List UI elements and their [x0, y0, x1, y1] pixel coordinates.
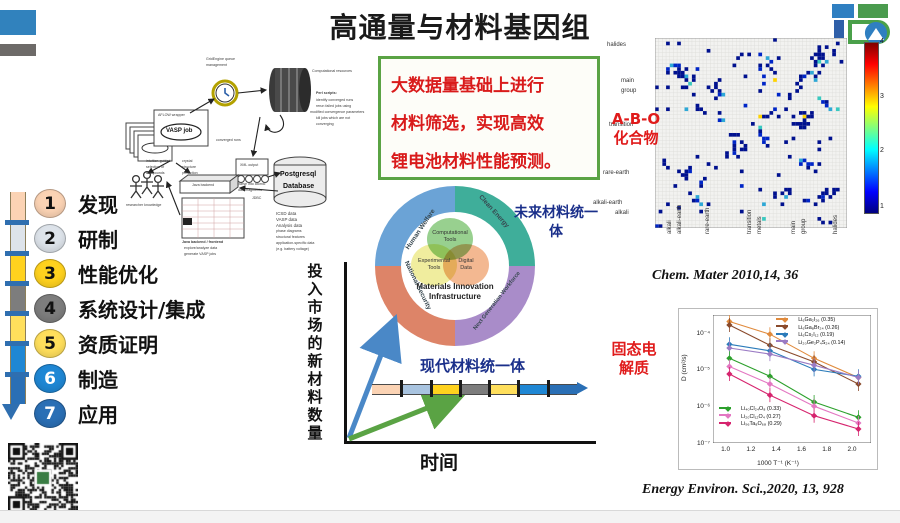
timeline-tick-5 — [517, 380, 520, 397]
step-item-7[interactable]: 7应用 — [8, 396, 208, 431]
diffusion-xtick-2: 1.4 — [772, 446, 781, 453]
wf-label-aflow-wrapper: AFLOW wrapper — [158, 113, 185, 117]
heatmap-row-label-6: alkali — [615, 210, 629, 216]
solid-electrolyte-label: 固态电 解质 — [608, 340, 660, 378]
diffusion-ytick-2: 10⁻⁶ — [697, 402, 710, 410]
timeline-tick-6 — [547, 380, 550, 397]
wf-label-researcher: researcher knowledge — [126, 203, 161, 207]
aflow-workflow-diagram: GridEngine queue management Computationa… — [120, 55, 370, 250]
step-badge-4: 4 — [34, 294, 66, 323]
diffusion-citation: Energy Environ. Sci.,2020, 13, 928 — [642, 482, 844, 498]
timeline-tick-3 — [459, 380, 462, 397]
wf-label-jdbc: JDBC — [252, 196, 261, 200]
heatmap-row-label-5: alkali-earth — [593, 200, 622, 206]
diffusion-marker — [855, 374, 861, 380]
heatmap-col-label-1: alkali-earth — [677, 205, 683, 234]
step-label-6: 制造 — [78, 364, 118, 393]
wf-label-perl4: kill jobs which are not — [316, 116, 350, 120]
wf-label-vaspdata: VASP data — [276, 217, 297, 223]
step-item-6[interactable]: 6制造 — [8, 361, 208, 396]
diffusion-xtick-5: 2.0 — [848, 446, 857, 453]
step-label-3: 性能优化 — [78, 259, 158, 288]
diffusion-marker — [726, 345, 732, 351]
diffusion-plot-area: 10⁻⁴10⁻⁵10⁻⁶10⁻⁷1.01.21.41.61.82.0Li₆Ga₂… — [713, 315, 871, 443]
step-label-1: 发现 — [78, 189, 118, 218]
diffusion-legend-top: Li₆Ga₂I₂₆ (0.35)Li₆Ga₈Br₂₄ (0.26)Li₆Cs₂I… — [776, 317, 845, 347]
heatmap-col-label-5: main — [791, 221, 797, 234]
diffusion-legend-item-3: Li₂₀Ge₂P₄S₂₄ (0.14) — [776, 340, 845, 348]
cbar-tick-3: 3 — [880, 93, 884, 100]
logo-bar-blue — [0, 10, 36, 35]
qr-code[interactable] — [8, 443, 78, 513]
step-badge-5: 5 — [34, 329, 66, 358]
step-label-4: 系统设计/集成 — [78, 294, 205, 323]
diffusion-ylabel: D (cm²/s) — [681, 354, 688, 381]
solid-electrolyte-line2: 解质 — [619, 359, 649, 377]
timeline-tick-2 — [430, 380, 433, 397]
diffusion-ytick-0: 10⁻⁴ — [697, 329, 710, 337]
wf-label-explore: explore/analyze data — [184, 246, 217, 250]
wf-label-converged: converged runs — [216, 138, 241, 142]
wf-label-gridengine: GridEngine queue — [206, 57, 235, 61]
step-badge-2: 2 — [34, 224, 66, 253]
market-materials-chart: 投入市场的新材料数量 时间 现代材料统一体 — [300, 262, 600, 472]
wf-label-vasp-job: VASP job — [166, 128, 192, 136]
wf-label-perl1: identify converged runs — [316, 98, 353, 102]
page-title: 高通量与材料基因组 — [300, 6, 620, 46]
step-badge-6: 6 — [34, 364, 66, 393]
wf-label-javabackend: Java backend — [192, 183, 214, 187]
diffusion-legend-item-1: Li₆Ga₈Br₂₄ (0.26) — [776, 325, 845, 333]
callout-box: 大数据量基础上进行 材料筛选，实现高效 锂电池材料性能预测。 — [378, 56, 600, 180]
diffusion-ytick-3: 10⁻⁷ — [697, 439, 710, 447]
cbar-tick-2: 2 — [880, 147, 884, 154]
abo-red-label-line1: A-B-O — [612, 110, 660, 128]
wf-label-database: Database — [283, 183, 314, 192]
heatmap-col-label-0: alkali — [667, 220, 673, 234]
heatmap-cells — [655, 38, 847, 228]
wf-label-parse2: data fragments — [238, 188, 262, 192]
slide-root: 高通量与材料基因组 大数据量基础上进行 材料筛选，实现高效 锂电池材料性能预测。… — [0, 0, 900, 523]
timeline-segment-5 — [489, 384, 518, 395]
timeline-segment-1 — [372, 384, 401, 395]
diffusion-legend-item-6: Li₅₆Ta₈O₆₈ (0.29) — [719, 421, 782, 429]
heatmap-col-label-4: metals — [757, 216, 763, 234]
heatmap-colorbar — [864, 42, 879, 214]
future-materials-label: 未来材料统一体 — [508, 204, 604, 242]
abo-red-label-line2: 化合物 — [613, 129, 658, 147]
step-label-2: 研制 — [78, 224, 118, 253]
timeline-tick-1 — [400, 380, 403, 397]
timeline-segment-3 — [431, 384, 460, 395]
step-item-5[interactable]: 5资质证明 — [8, 326, 208, 361]
footer-bar — [0, 510, 900, 523]
heatmap-grid — [655, 38, 847, 228]
heatmap-col-label-6: group — [801, 219, 807, 234]
wf-label-compresources: Computational resources — [312, 69, 352, 73]
timeline-segment-7 — [548, 384, 577, 395]
cbar-tick-4: 4 — [880, 38, 884, 45]
diffusion-marker — [811, 413, 817, 419]
wf-label-generate: generate VASP jobs — [184, 252, 216, 256]
heatmap-col-label-7: halides — [833, 215, 839, 234]
wf-label-parse1: parse into atomic — [238, 182, 265, 186]
diffusion-legend-item-5: Li₂₀Cl₁₂O₄ (0.27) — [719, 414, 782, 422]
diffusion-chart: 10⁻⁴10⁻⁵10⁻⁶10⁻⁷1.01.21.41.61.82.0Li₆Ga₂… — [678, 308, 878, 470]
abo-red-label: A-B-O 化合物 — [608, 110, 664, 148]
heatmap-row-label-4: rare-earth — [603, 170, 629, 176]
callout-line-1: 大数据量基础上进行 — [391, 67, 591, 105]
wf-label-perlscripts: Perl scripts: — [316, 91, 337, 95]
diffusion-legend-item-2: Li₆Cs₂I₁₂ (0.19) — [776, 332, 845, 340]
timeline-segment-2 — [401, 384, 430, 395]
wf-label-structure: structure — [182, 165, 196, 169]
heatmap-row-label-0: halides — [607, 42, 626, 48]
logo-bar-gray — [0, 44, 36, 56]
callout-line-2: 材料筛选，实现高效 — [391, 105, 591, 143]
timeline-segment-4 — [460, 384, 489, 395]
diffusion-marker — [855, 426, 861, 432]
diffusion-marker — [726, 371, 732, 377]
timeline-arrow-head — [577, 382, 588, 394]
wf-label-xml: XML output — [240, 163, 258, 167]
diffusion-marker — [767, 392, 773, 398]
future-materials-text: 未来材料统一体 — [514, 205, 598, 240]
diffusion-marker — [726, 322, 732, 328]
diffusion-xlabel: 1000 T⁻¹ (K⁻¹) — [679, 459, 877, 467]
wf-label-crystal: crystal — [182, 159, 192, 163]
heatmap-row-label-2: group — [621, 88, 636, 94]
wf-label-management: management — [206, 63, 227, 67]
diffusion-ytick-1: 10⁻⁵ — [697, 365, 710, 373]
wf-label-perl5: converging — [316, 122, 334, 126]
diffusion-xtick-0: 1.0 — [721, 446, 730, 453]
diffusion-marker — [767, 381, 773, 387]
wf-label-intuition1: intuition-guided — [146, 159, 170, 163]
step-badge-7: 7 — [34, 399, 66, 428]
diffusion-xtick-1: 1.2 — [746, 446, 755, 453]
timeline-tick-4 — [488, 380, 491, 397]
step-item-3[interactable]: 3性能优化 — [8, 256, 208, 291]
heatmap-citation: Chem. Mater 2010,14, 36 — [652, 268, 798, 284]
diffusion-marker — [811, 403, 817, 409]
wf-label-postgresql: Postgresql — [280, 171, 316, 180]
wf-label-intuition2: selection of — [146, 165, 164, 169]
step-item-4[interactable]: 4系统设计/集成 — [8, 291, 208, 326]
diffusion-legend-bottom: Li₄₀Cl₂₄O₈ (0.33)Li₂₀Cl₁₂O₄ (0.27)Li₅₆Ta… — [719, 406, 782, 429]
step-badge-1: 1 — [34, 189, 66, 218]
diffusion-xtick-4: 1.8 — [822, 446, 831, 453]
wf-label-prediction: prediction — [182, 171, 198, 175]
timeline-segment-6 — [518, 384, 547, 395]
diffusion-xtick-3: 1.6 — [797, 446, 806, 453]
step-badge-3: 3 — [34, 259, 66, 288]
heatmap-col-label-3: transition — [747, 210, 753, 234]
heatmap-row-label-1: main — [621, 78, 634, 84]
abo-heatmap: halidesmaingrouptransitionrare-earthalka… — [655, 38, 847, 228]
step-label-7: 应用 — [78, 399, 118, 428]
wf-label-icsd: ICSD data — [276, 211, 296, 217]
callout-line-3: 锂电池材料性能预测。 — [391, 143, 591, 181]
wf-label-perl3: modified convergence parameters — [310, 110, 364, 114]
wf-label-appdata: application-specific data — [276, 241, 314, 245]
heatmap-col-label-2: rare-earth — [705, 208, 711, 234]
blob-label-computational: ComputationalTools — [427, 230, 473, 243]
wf-label-battery: (e.g. battery voltage) — [276, 247, 309, 251]
diffusion-marker — [767, 331, 773, 337]
wf-label-intuition3: compounds — [146, 171, 165, 175]
wf-label-analysisdata: Analysis data — [276, 223, 302, 229]
diffusion-legend-item-0: Li₆Ga₂I₂₆ (0.35) — [776, 317, 845, 325]
step-label-5: 资质证明 — [78, 329, 158, 358]
wf-label-structfeat: structural features — [276, 235, 305, 239]
wf-label-java-front: Java backend / frontend — [182, 240, 223, 244]
solid-electrolyte-line1: 固态电 — [611, 340, 656, 358]
cbar-tick-1: 1 — [880, 203, 884, 210]
modern-materials-timeline — [372, 380, 577, 396]
wf-label-phasedia: phase diagrams — [276, 229, 302, 233]
wf-label-perl2: rerun failed jobs using — [316, 104, 351, 108]
